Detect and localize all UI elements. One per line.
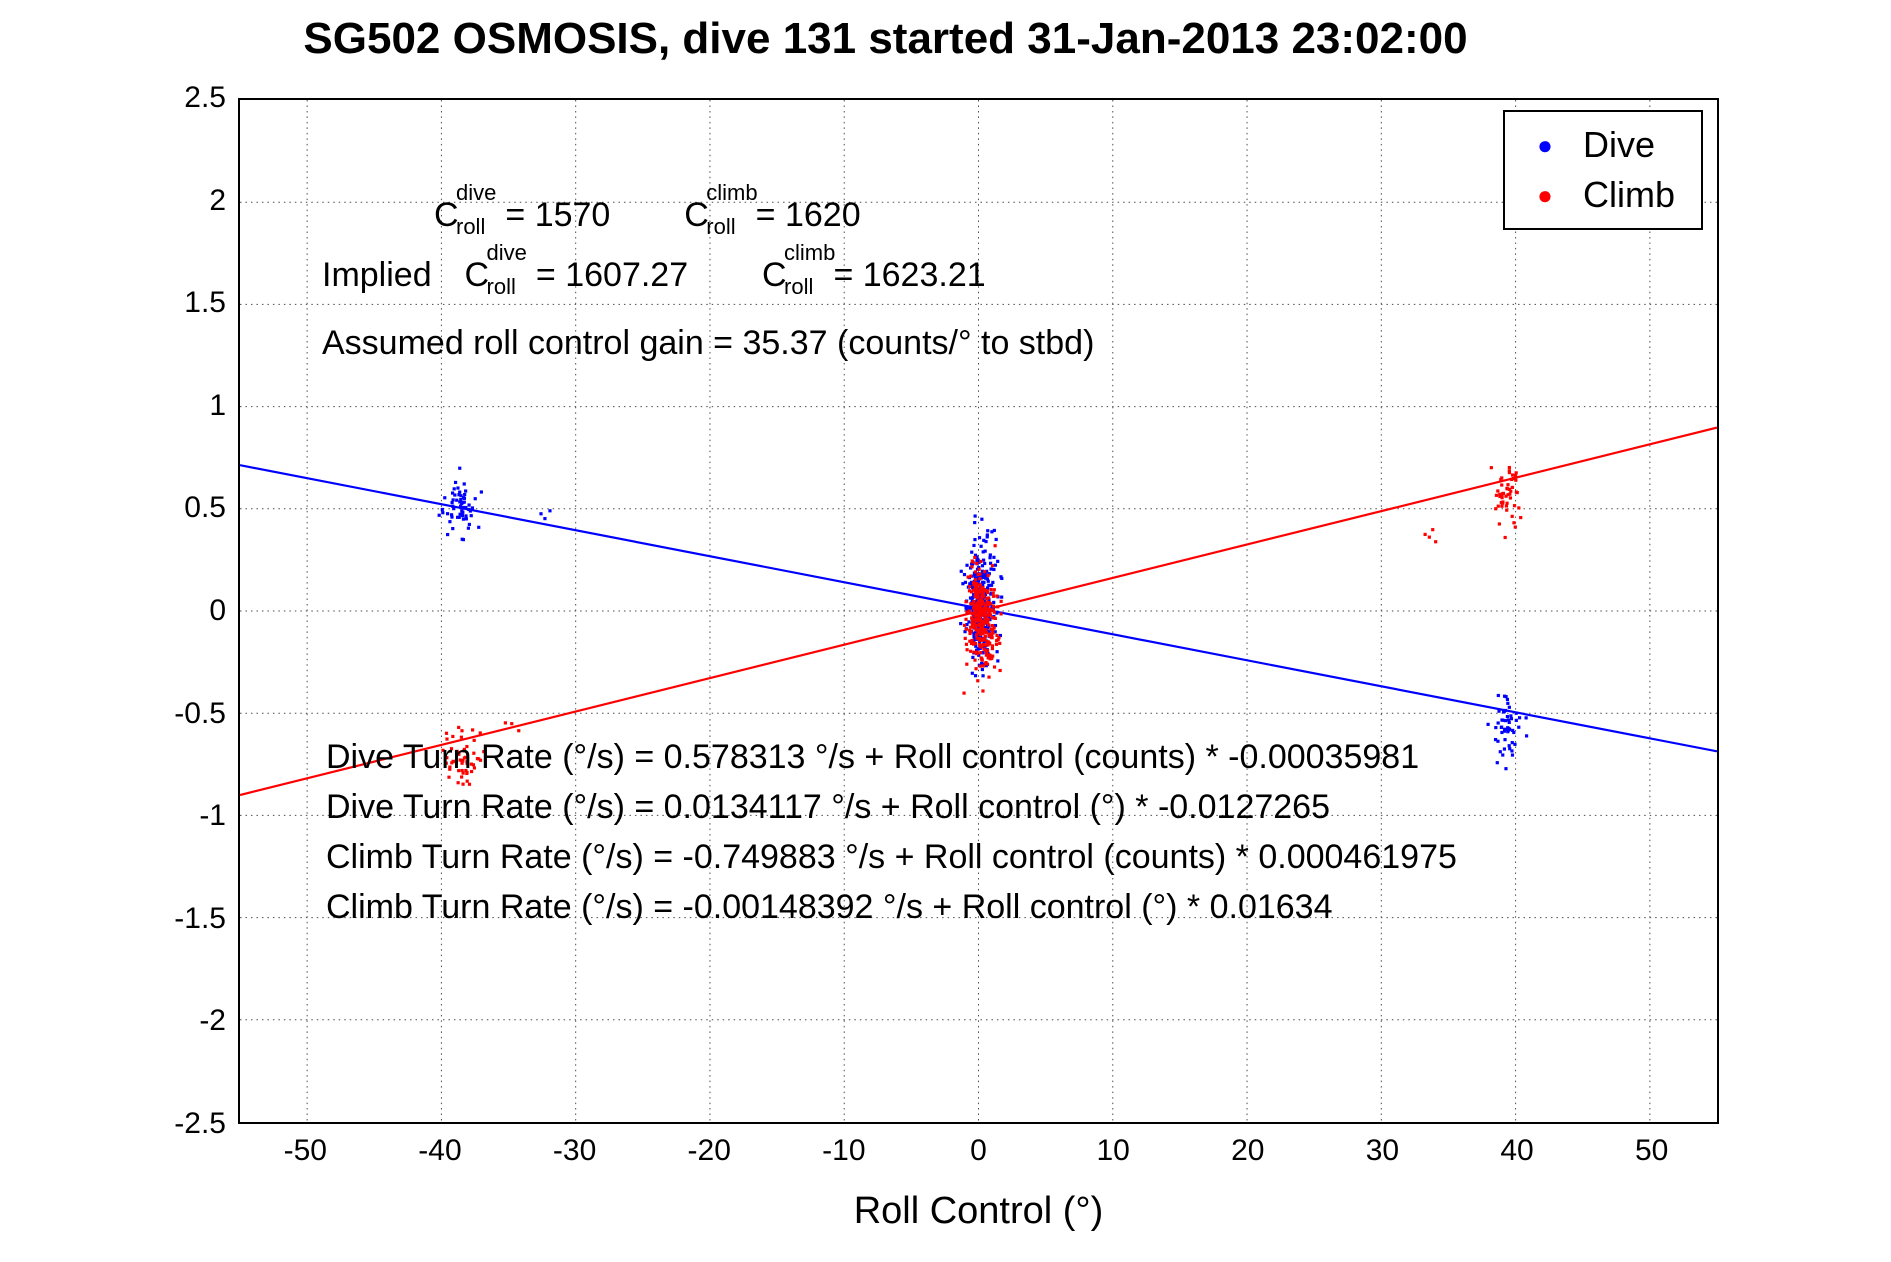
implied-c-dive-base: C — [465, 256, 490, 294]
c-dive-subscript: roll — [456, 216, 485, 238]
legend-label-climb: Climb — [1575, 174, 1675, 216]
y-tick-label: -0.5 — [174, 697, 226, 731]
x-tick-label: 40 — [1500, 1134, 1533, 1168]
c-climb-subscript: roll — [706, 216, 735, 238]
plot-area: ● Dive ● Climb C dive roll = 1570 C clim… — [238, 98, 1719, 1124]
equation-dive-counts: Dive Turn Rate (°/s) = 0.578313 °/s + Ro… — [326, 738, 1419, 777]
y-tick-label: 2.5 — [184, 81, 226, 115]
y-tick-label: 2 — [209, 184, 226, 218]
y-tick-label: 0.5 — [184, 491, 226, 525]
c-dive-superscript: dive — [456, 182, 496, 204]
legend-marker-climb: ● — [1515, 182, 1575, 208]
page-title: SG502 OSMOSIS, dive 131 started 31-Jan-2… — [0, 14, 1891, 64]
c-dive-term: C dive roll — [434, 198, 459, 232]
annotation-roll-gain: Assumed roll control gain = 35.37 (count… — [322, 326, 1094, 360]
legend-item-climb[interactable]: ● Climb — [1515, 170, 1685, 220]
c-dive-value: = 1570 — [505, 196, 610, 234]
x-tick-label: 0 — [970, 1134, 987, 1168]
y-tick-label: 0 — [209, 594, 226, 628]
implied-c-climb-superscript: climb — [784, 242, 835, 264]
y-tick-label: -2.5 — [174, 1107, 226, 1141]
annotation-implied-constants: Implied C dive roll = 1607.27 C climb ro… — [322, 258, 986, 292]
y-tick-label: 1.5 — [184, 286, 226, 320]
implied-c-climb-value: = 1623.21 — [833, 256, 985, 294]
implied-c-dive-superscript: dive — [487, 242, 527, 264]
implied-c-climb-base: C — [762, 256, 787, 294]
implied-c-climb-subscript: roll — [784, 276, 813, 298]
c-climb-superscript: climb — [706, 182, 757, 204]
x-tick-label: -40 — [418, 1134, 461, 1168]
equation-climb-counts: Climb Turn Rate (°/s) = -0.749883 °/s + … — [326, 838, 1457, 877]
legend-marker-dive: ● — [1515, 132, 1575, 158]
x-tick-label: -10 — [822, 1134, 865, 1168]
legend[interactable]: ● Dive ● Climb — [1503, 110, 1703, 230]
implied-c-dive-term: C dive roll — [465, 258, 490, 292]
implied-c-climb-term: C climb roll — [762, 258, 787, 292]
c-climb-base: C — [684, 196, 709, 234]
equation-climb-degrees: Climb Turn Rate (°/s) = -0.00148392 °/s … — [326, 888, 1333, 927]
x-tick-label: -50 — [284, 1134, 327, 1168]
x-tick-label: 10 — [1096, 1134, 1129, 1168]
title-text: SG502 OSMOSIS, dive 131 started 31-Jan-2… — [303, 14, 1467, 64]
y-tick-label: -2 — [199, 1004, 226, 1038]
implied-prefix: Implied — [322, 256, 432, 294]
x-tick-label: -30 — [553, 1134, 596, 1168]
y-axis-ticks: 2.521.510.50-0.5-1-1.5-2-2.5 — [0, 98, 226, 1124]
implied-c-dive-subscript: roll — [487, 276, 516, 298]
legend-item-dive[interactable]: ● Dive — [1515, 120, 1685, 170]
y-tick-label: -1.5 — [174, 902, 226, 936]
c-dive-base: C — [434, 196, 459, 234]
scatter-plot-svg — [240, 100, 1717, 1122]
x-tick-label: 50 — [1635, 1134, 1668, 1168]
series-dive — [438, 467, 1529, 771]
c-climb-value: = 1620 — [756, 196, 861, 234]
y-tick-label: -1 — [199, 799, 226, 833]
equation-dive-degrees: Dive Turn Rate (°/s) = 0.0134117 °/s + R… — [326, 788, 1330, 827]
x-axis-label: Roll Control (°) — [238, 1190, 1719, 1233]
x-tick-label: -20 — [688, 1134, 731, 1168]
x-axis-ticks: -50-40-30-20-1001020304050 — [238, 1134, 1719, 1174]
y-tick-label: 1 — [209, 389, 226, 423]
c-climb-term: C climb roll — [684, 198, 709, 232]
annotation-cal-constants: C dive roll = 1570 C climb roll = 1620 — [434, 198, 861, 232]
implied-c-dive-value: = 1607.27 — [536, 256, 688, 294]
x-tick-label: 20 — [1231, 1134, 1264, 1168]
legend-label-dive: Dive — [1575, 124, 1655, 166]
x-tick-label: 30 — [1366, 1134, 1399, 1168]
